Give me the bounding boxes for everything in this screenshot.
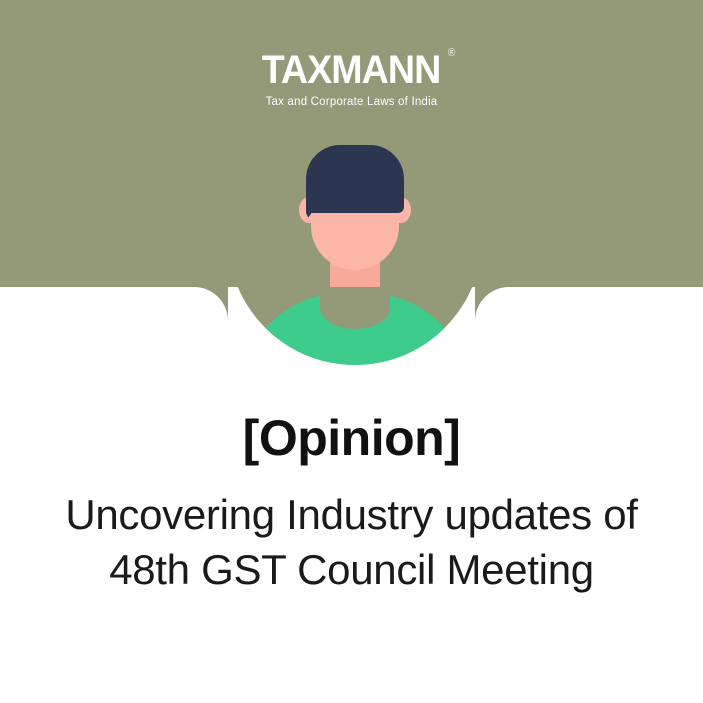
headline-line-2: 48th GST Council Meeting [0,542,703,597]
brand-tagline: Tax and Corporate Laws of India [0,97,703,109]
avatar-hair-icon [306,145,404,213]
avatar-collar-icon [320,287,390,329]
text-block: [Opinion] Uncovering Industry updates of… [0,412,703,597]
brand-logo: TAXMANN ® Tax and Corporate Laws of Indi… [0,50,703,109]
band-notch-left [194,287,228,321]
registered-trademark-icon: ® [448,48,455,59]
kicker-label: [Opinion] [0,412,703,465]
avatar-illustration [228,111,482,365]
brand-wordmark: TAXMANN ® [262,50,441,90]
brand-wordmark-text: TAXMANN [262,48,441,92]
headline-line-1: Uncovering Industry updates of [0,487,703,542]
page-title: Uncovering Industry updates of 48th GST … [0,487,703,598]
avatar [228,111,482,365]
opinion-card: TAXMANN ® Tax and Corporate Laws of Indi… [0,0,703,703]
